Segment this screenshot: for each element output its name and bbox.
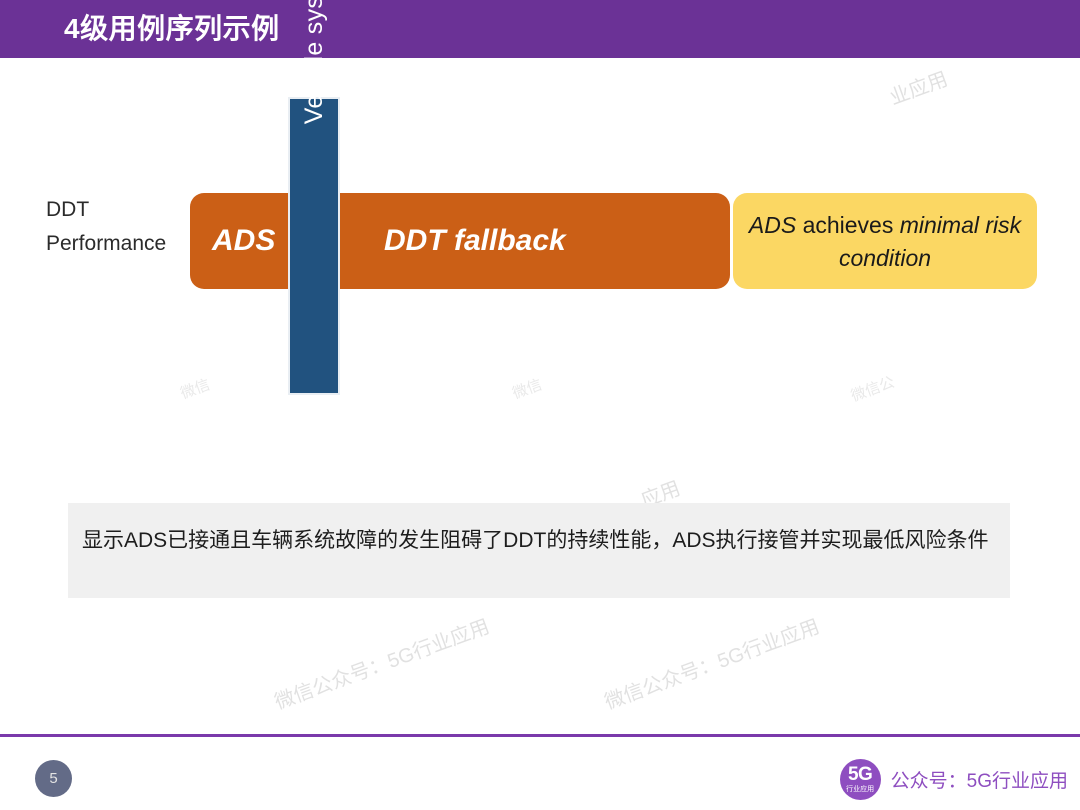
watermark: 微信公众号：5G行业应用 [600, 610, 823, 715]
mrc-label-part2: achieves [803, 212, 894, 238]
page-number-badge: 5 [35, 760, 72, 797]
brand-logo-sub: 行业应用 [846, 786, 874, 793]
footer-divider [0, 734, 1080, 737]
axis-label-line1: DDT [46, 193, 196, 227]
minimal-risk-condition-label: ADS achieves minimal risk condition [733, 209, 1037, 275]
page-title: 4级用例序列示例 [64, 9, 280, 49]
segment-label-ads: ADS [212, 224, 275, 258]
footer-brand: 5G 行业应用 公众号：5G行业应用 [840, 758, 1068, 800]
brand-logo-main: 5G [848, 765, 872, 784]
caption-text: 显示ADS已接通且车辆系统故障的发生阻碍了DDT的持续性能，ADS执行接管并实现… [82, 517, 1002, 565]
ddt-performance-axis-label: DDT Performance [46, 193, 196, 261]
axis-label-line2: Performance [46, 227, 196, 261]
slide-canvas: 4级用例序列示例 业应用 微信 微信 微信公 应用 微信公众号：5G行业应用 微… [0, 0, 1080, 810]
brand-text: 公众号：5G行业应用 [891, 766, 1068, 793]
segment-label-ddt-fallback: DDT fallback [384, 224, 566, 258]
use-case-sequence-diagram: DDT Performance ADS DDT fallback ADS ach… [0, 58, 1080, 478]
brand-logo-icon: 5G 行业应用 [840, 759, 881, 800]
vehicle-system-failure-label: Vehicle system failure [288, 0, 340, 149]
watermark: 微信公众号：5G行业应用 [270, 610, 493, 715]
mrc-label-part1: ADS [749, 212, 796, 238]
